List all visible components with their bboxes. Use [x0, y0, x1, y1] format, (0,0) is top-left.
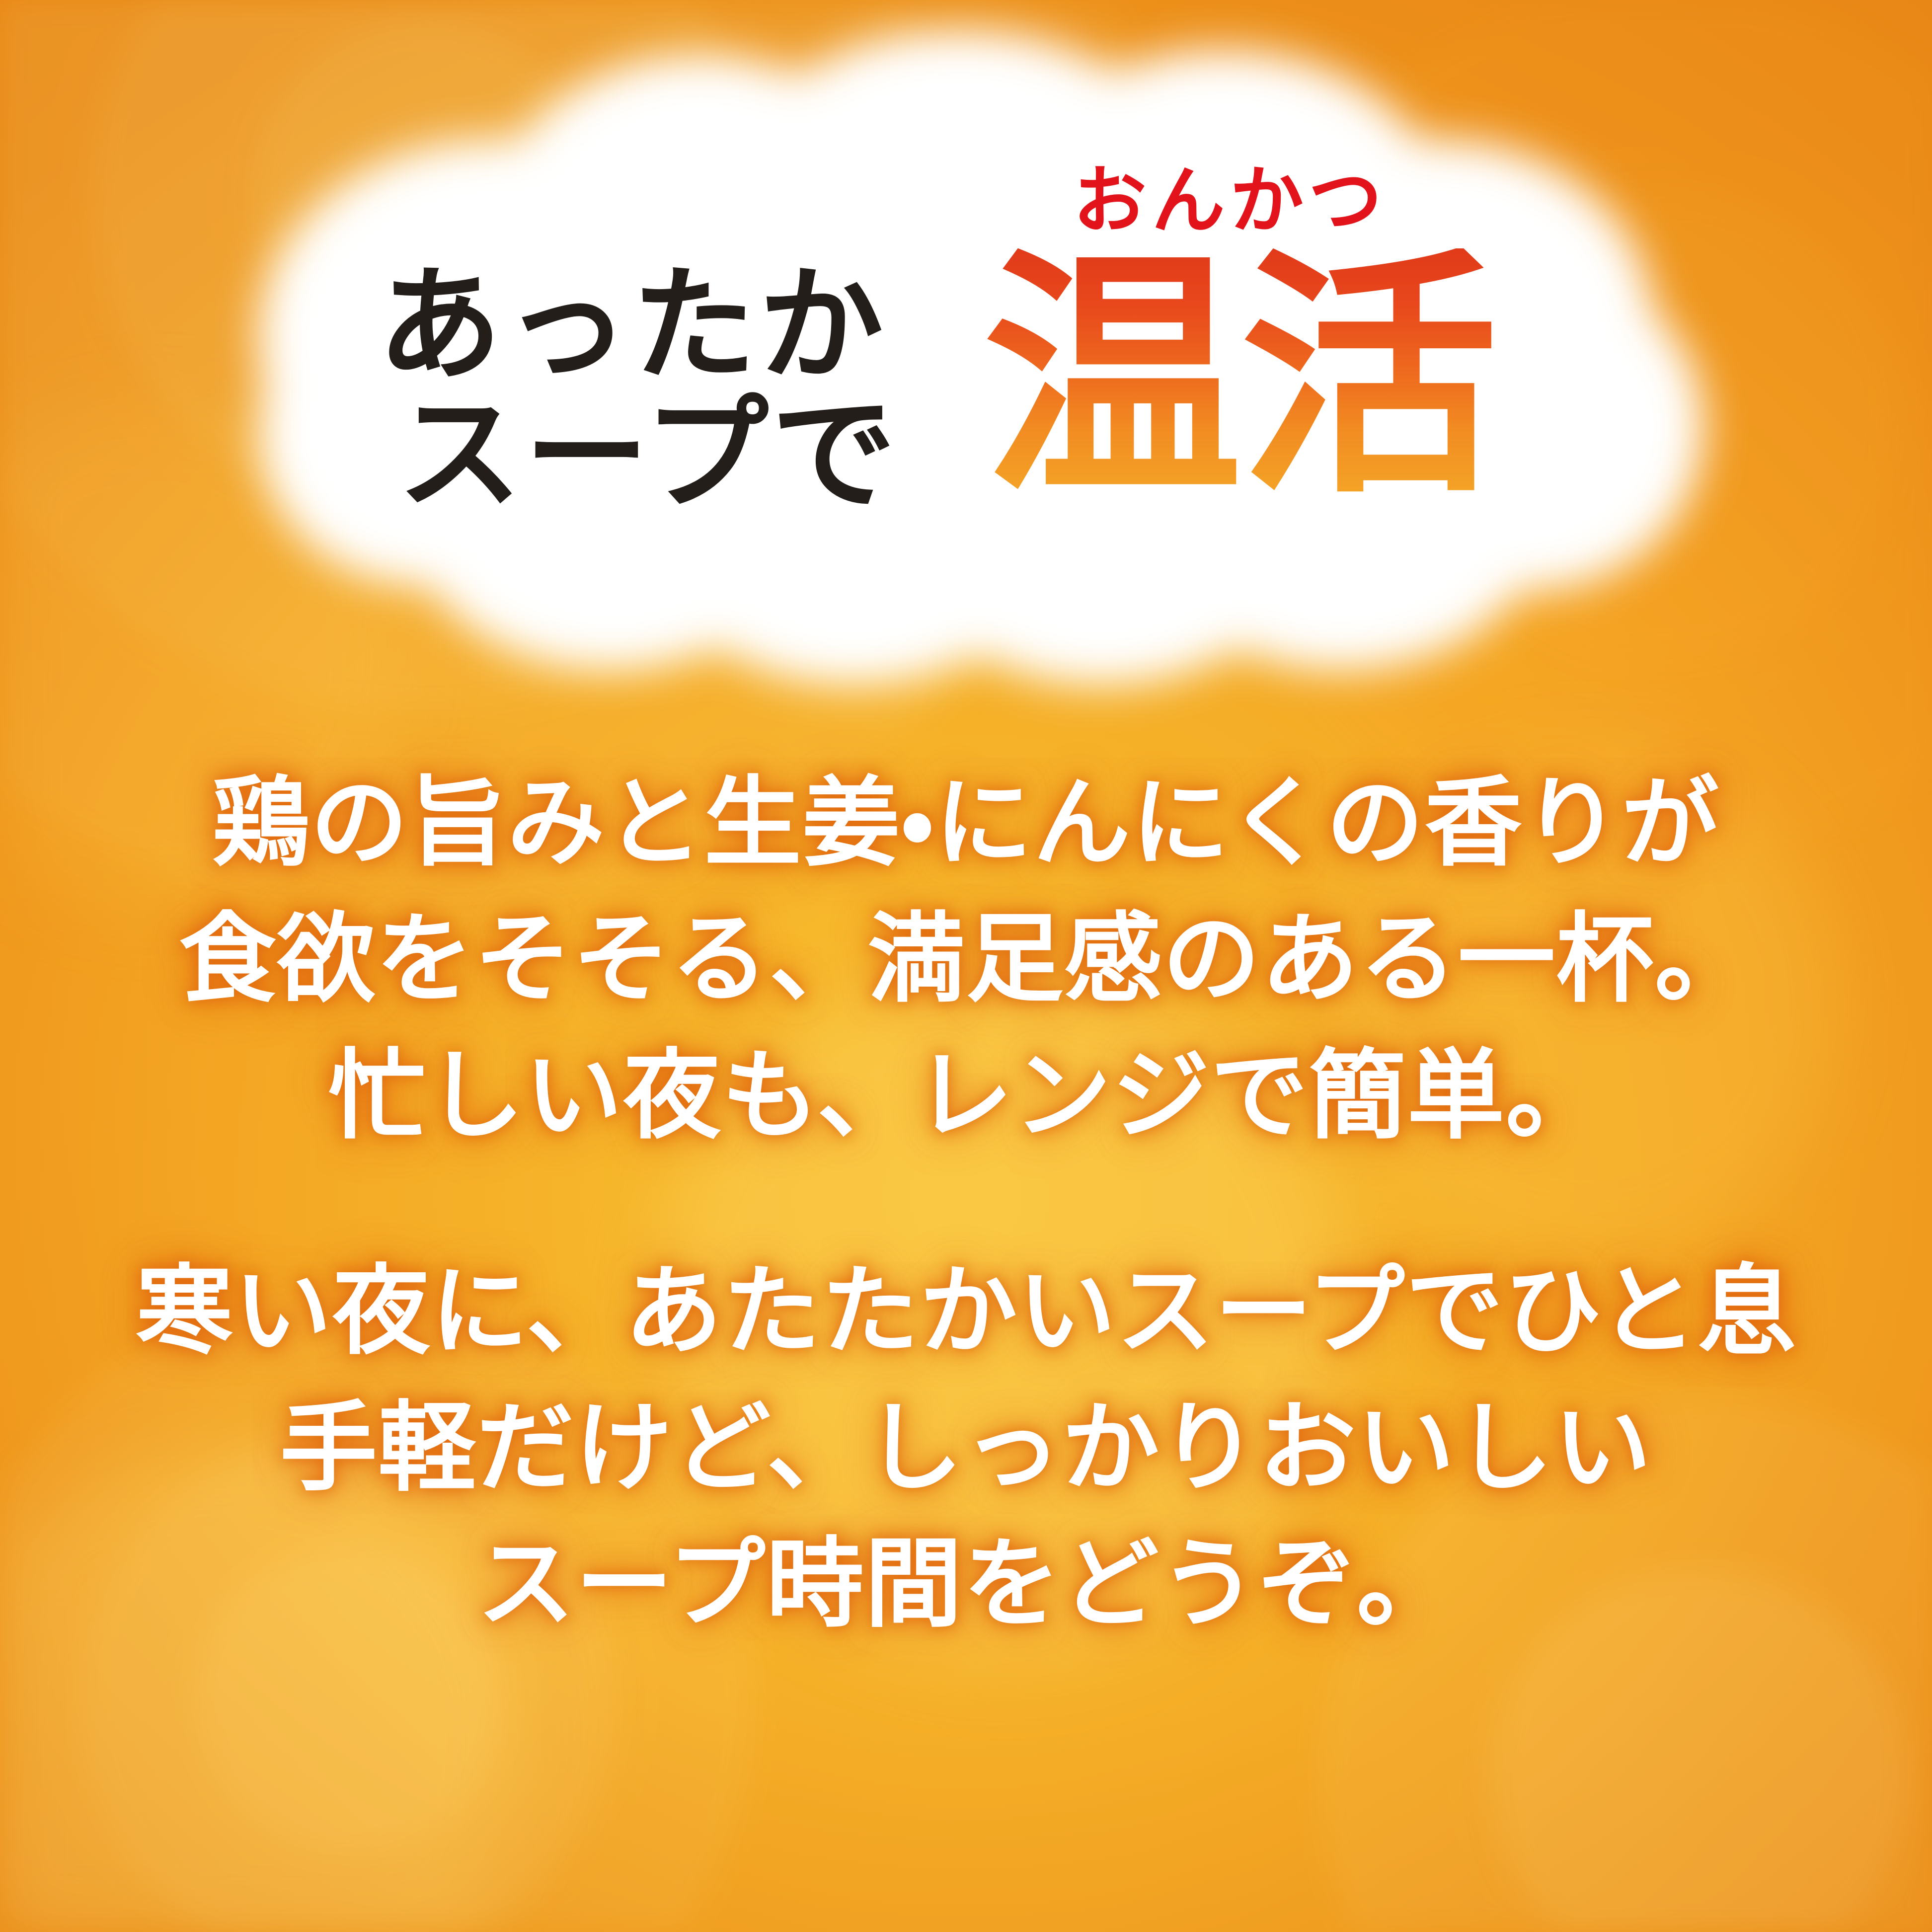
body-line: スープ時間をどうぞ。 [0, 1516, 1932, 1652]
poster-canvas: おんかつ あったか スープで 温活 鶏の旨みと生姜・にんにくの香りが 食欲をそそ… [0, 0, 1932, 1932]
headline-block: おんかつ あったか スープで 温活 [378, 164, 1620, 636]
body-line: 手軽だけど、しっかりおいしい [0, 1380, 1932, 1516]
paragraph-lifestyle-message: 寒い夜に、あたたかいスープでひと息 手軽だけど、しっかりおいしい スープ時間をど… [0, 1243, 1932, 1652]
headline-line-2: スープで [397, 392, 899, 517]
headline-line-1: あったか [378, 263, 886, 387]
body-line: 鶏の旨みと生姜・にんにくの香りが [0, 755, 1932, 891]
body-line: 忙しい夜も、レンジで簡単。 [0, 1028, 1932, 1164]
headline-kanji-onkatsu: 温活 [984, 248, 1496, 507]
body-copy-block: 鶏の旨みと生姜・にんにくの香りが 食欲をそそる、満足感のある一杯。 忙しい夜も、… [0, 755, 1932, 1652]
paragraph-product-description: 鶏の旨みと生姜・にんにくの香りが 食欲をそそる、満足感のある一杯。 忙しい夜も、… [0, 755, 1932, 1164]
body-line: 食欲をそそる、満足感のある一杯。 [0, 891, 1932, 1027]
body-line: 寒い夜に、あたたかいスープでひと息 [0, 1243, 1932, 1380]
furigana-onkatsu: おんかつ [1073, 164, 1387, 237]
